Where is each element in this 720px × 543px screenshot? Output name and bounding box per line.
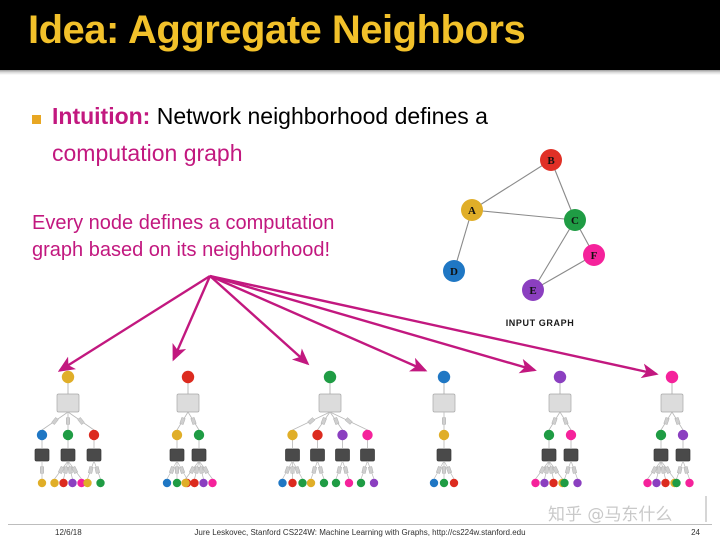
transform-pill bbox=[295, 466, 301, 473]
tree-node bbox=[194, 430, 204, 440]
transform-pill bbox=[345, 418, 352, 425]
tree-node bbox=[531, 479, 539, 487]
computation-graphs bbox=[0, 355, 720, 520]
tree-node bbox=[439, 430, 449, 440]
tree-node bbox=[554, 371, 566, 383]
tree-node bbox=[666, 371, 678, 383]
tree-node bbox=[278, 479, 286, 487]
tree-node bbox=[337, 430, 347, 440]
transform-pill bbox=[52, 417, 59, 424]
transform-pill bbox=[285, 466, 291, 473]
aggregation-box bbox=[676, 449, 690, 461]
tree-node bbox=[450, 479, 458, 487]
transform-pill bbox=[169, 466, 175, 473]
tree-node bbox=[38, 479, 46, 487]
transform-pill bbox=[199, 467, 204, 474]
tree-node bbox=[652, 479, 660, 487]
transform-pill bbox=[544, 467, 549, 474]
transform-pill bbox=[684, 466, 689, 473]
tree-node bbox=[312, 430, 322, 440]
transform-pill bbox=[333, 417, 339, 424]
tree-node bbox=[566, 430, 576, 440]
transform-pill bbox=[446, 466, 452, 473]
tree-node bbox=[172, 430, 182, 440]
tree-node bbox=[89, 430, 99, 440]
tree-node bbox=[83, 479, 91, 487]
aggregation-box bbox=[87, 449, 101, 461]
aggregation-box bbox=[35, 449, 49, 461]
transform-pill bbox=[78, 417, 85, 424]
tree-node bbox=[181, 479, 189, 487]
tree-node bbox=[50, 479, 58, 487]
tree-node bbox=[63, 430, 73, 440]
transform-pill bbox=[321, 417, 327, 424]
aggregation-box bbox=[57, 394, 79, 412]
tree-node bbox=[438, 371, 450, 383]
transform-pill bbox=[312, 466, 317, 473]
tree-node bbox=[62, 371, 74, 383]
transform-pill bbox=[442, 467, 446, 473]
transform-pill bbox=[343, 466, 348, 473]
tree-node bbox=[173, 479, 181, 487]
transform-pill bbox=[291, 467, 295, 473]
aggregation-box bbox=[61, 449, 75, 461]
footer-page-number: 24 bbox=[660, 528, 700, 537]
transform-pill bbox=[675, 417, 680, 424]
transform-pill bbox=[565, 466, 570, 473]
aggregation-box bbox=[319, 394, 341, 412]
aggregation-box bbox=[336, 449, 350, 461]
aggregation-box bbox=[542, 449, 556, 461]
tree-node bbox=[549, 479, 557, 487]
tree-node bbox=[199, 479, 207, 487]
transform-pill bbox=[68, 467, 73, 474]
aggregation-box bbox=[192, 449, 206, 461]
tree-node bbox=[573, 479, 581, 487]
transform-pill bbox=[308, 418, 315, 425]
transform-pill bbox=[175, 467, 179, 473]
aggregation-box bbox=[433, 394, 455, 412]
transform-pill bbox=[95, 466, 100, 473]
aggregation-box bbox=[654, 449, 668, 461]
tree-node bbox=[685, 479, 693, 487]
tree-node bbox=[332, 479, 340, 487]
tree-node bbox=[190, 479, 198, 487]
transform-pill bbox=[66, 418, 70, 424]
aggregation-box bbox=[177, 394, 199, 412]
tree-node bbox=[320, 479, 328, 487]
transform-pill bbox=[664, 417, 669, 424]
aggregation-box bbox=[286, 449, 300, 461]
aggregation-box bbox=[437, 449, 451, 461]
tree-node bbox=[37, 430, 47, 440]
transform-pill bbox=[661, 467, 666, 474]
tree-node bbox=[678, 430, 688, 440]
tree-node bbox=[643, 479, 651, 487]
tree-node bbox=[672, 479, 680, 487]
tree-node bbox=[540, 479, 548, 487]
transform-pill bbox=[194, 467, 199, 474]
tree-node bbox=[544, 430, 554, 440]
tree-node bbox=[288, 479, 296, 487]
tree-node bbox=[182, 371, 194, 383]
tree-node bbox=[163, 479, 171, 487]
transform-pill bbox=[572, 466, 577, 473]
tree-node bbox=[370, 479, 378, 487]
transform-pill bbox=[88, 466, 93, 473]
tree-node bbox=[661, 479, 669, 487]
tree-node bbox=[560, 479, 568, 487]
aggregation-box bbox=[170, 449, 184, 461]
transform-pill bbox=[549, 467, 554, 474]
transform-pill bbox=[656, 467, 661, 474]
tree-node bbox=[656, 430, 666, 440]
tree-node bbox=[208, 479, 216, 487]
footer-divider bbox=[8, 524, 712, 525]
transform-pill bbox=[677, 466, 682, 473]
tree-node bbox=[430, 479, 438, 487]
transform-pill bbox=[180, 417, 185, 424]
tree-node bbox=[298, 479, 306, 487]
transform-pill bbox=[552, 417, 557, 424]
transform-pill bbox=[318, 466, 323, 473]
transform-pill bbox=[368, 466, 373, 473]
watermark: 知乎 @马东什么 bbox=[548, 500, 672, 525]
transform-pill bbox=[179, 466, 185, 473]
aggregation-box bbox=[549, 394, 571, 412]
tree-node bbox=[287, 430, 297, 440]
transform-pill bbox=[563, 417, 568, 424]
tree-node bbox=[59, 479, 67, 487]
transform-pill bbox=[191, 417, 196, 424]
aggregation-box bbox=[311, 449, 325, 461]
slide: Idea: Aggregate Neighbors Intuition: Net… bbox=[0, 0, 720, 543]
tree-node bbox=[357, 479, 365, 487]
tree-node bbox=[362, 430, 372, 440]
transform-pill bbox=[63, 467, 68, 474]
watermark-bar bbox=[705, 496, 707, 522]
aggregation-box bbox=[564, 449, 578, 461]
tree-node bbox=[324, 371, 336, 383]
tree-node bbox=[68, 479, 76, 487]
transform-pill bbox=[436, 466, 442, 473]
transform-pill bbox=[362, 466, 367, 473]
aggregation-box bbox=[661, 394, 683, 412]
aggregation-box bbox=[361, 449, 375, 461]
transform-pill bbox=[40, 467, 44, 473]
tree-node bbox=[96, 479, 104, 487]
tree-node bbox=[345, 479, 353, 487]
tree-node bbox=[440, 479, 448, 487]
footer-citation: Jure Leskovec, Stanford CS224W: Machine … bbox=[0, 528, 720, 537]
transform-pill bbox=[337, 466, 342, 473]
tree-node bbox=[307, 479, 315, 487]
transform-pill bbox=[442, 418, 446, 424]
